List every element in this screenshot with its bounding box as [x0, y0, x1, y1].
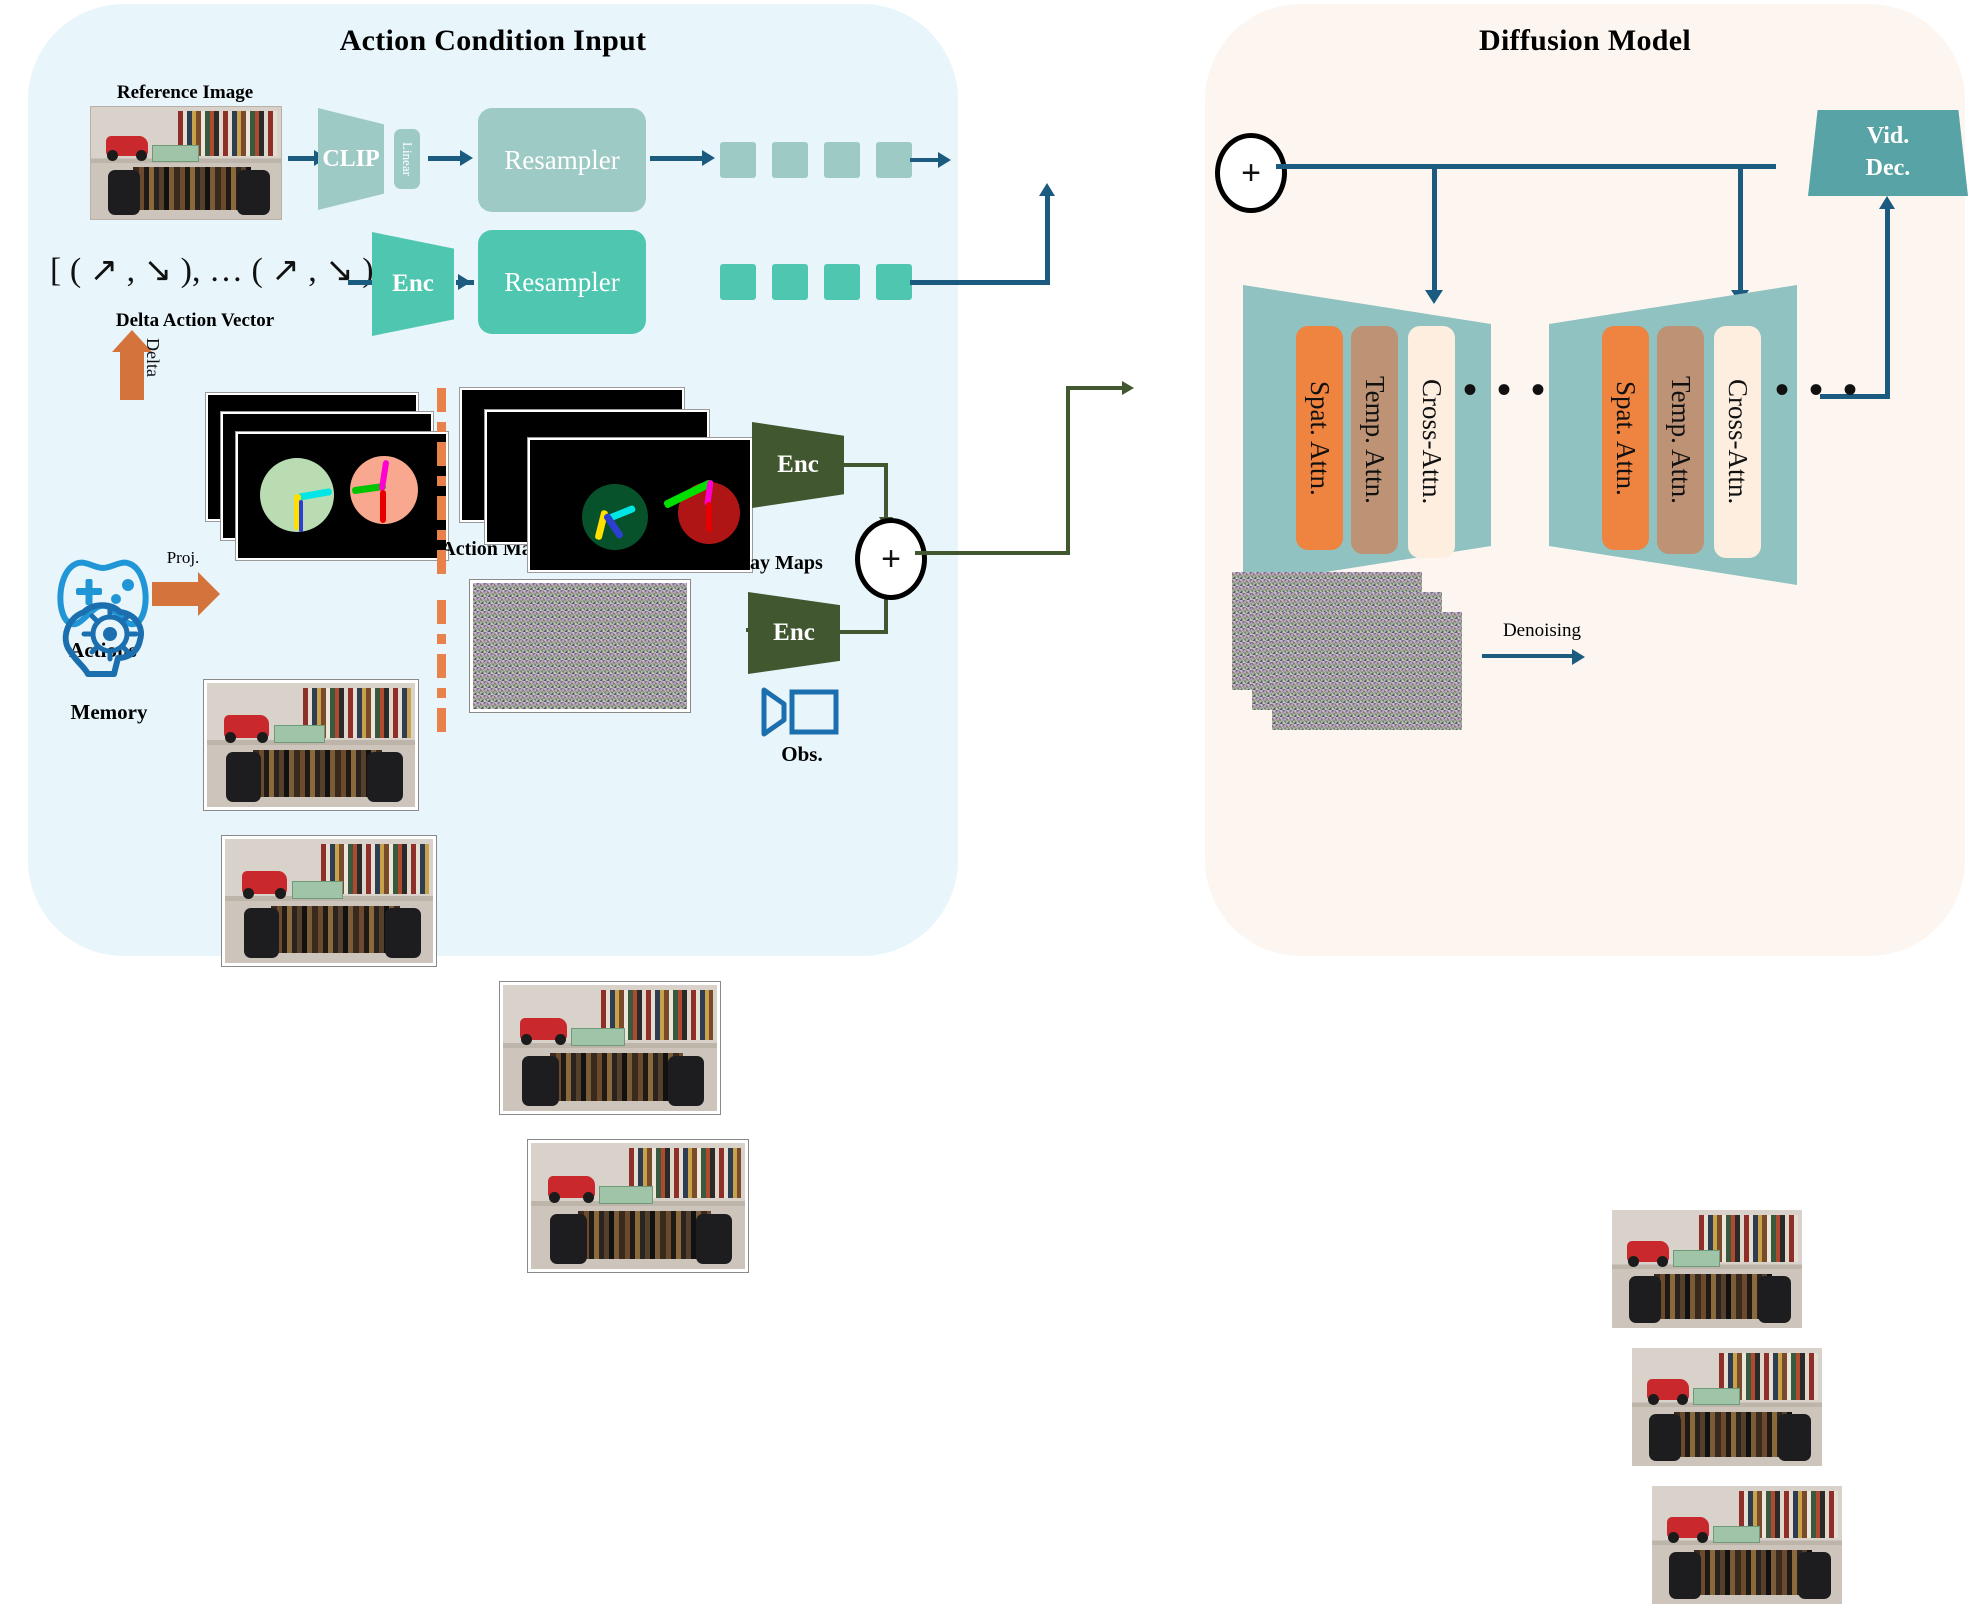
- denoise-output-frame-back: [1612, 1210, 1802, 1328]
- separator-dash-3: [437, 442, 446, 466]
- image-token-4: [876, 142, 912, 178]
- denoise-output-frame-mid: [1632, 1348, 1822, 1466]
- right-stick-red: [380, 490, 386, 523]
- delta-action-vector-expression: [ ( ↗ , ↘ ), … ( ↗ , ↘ ) ]: [50, 250, 350, 310]
- cond-branch-1-head: [1425, 290, 1443, 304]
- action-token-route-head: [1039, 183, 1055, 196]
- video-decoder-line-1: Vid.: [1808, 120, 1968, 152]
- latent-route-v: [1066, 386, 1070, 554]
- proj-arrow-shaft: [152, 582, 198, 606]
- obs-frame-front: [528, 1140, 748, 1272]
- cond-branch-1-v: [1432, 164, 1437, 294]
- obs-route-h: [838, 630, 888, 634]
- separator-dash-4: [437, 476, 446, 486]
- linear-block: Linear: [394, 129, 420, 189]
- separator-dash-1: [437, 388, 446, 412]
- memory-frame-front: [222, 836, 436, 966]
- action-token-2: [772, 264, 808, 300]
- linear-label: Linear: [399, 142, 415, 176]
- arrow-resampler1-line: [650, 156, 702, 161]
- panel-title-diffusion-model: Diffusion Model: [1205, 24, 1965, 58]
- separator-dash-2: [437, 422, 446, 432]
- unet-down-spat-attn-label: Spat. Attn.: [1304, 381, 1335, 496]
- clip-encoder-block: CLIP: [318, 108, 384, 210]
- action-token-1: [720, 264, 756, 300]
- viddec-input-head: [1879, 196, 1895, 209]
- unet-down-temp-attn-label: Temp. Attn.: [1359, 376, 1390, 504]
- maps-encoder-block: Enc: [752, 422, 844, 508]
- separator-dash-6: [437, 530, 446, 540]
- denoising-arrow-head: [1572, 649, 1585, 665]
- separator-dash-12: [437, 708, 446, 732]
- action-encoder-block: Enc: [372, 232, 454, 336]
- delta-arrow-label-wrap: Delta: [142, 338, 163, 382]
- proj-label: Proj.: [148, 548, 218, 568]
- unet-up-temp-attn-label: Temp. Attn.: [1665, 376, 1696, 504]
- action-token-4: [876, 264, 912, 300]
- arrow-enc-to-resampler2-head: [458, 274, 471, 290]
- memory-brain-icon: [58, 596, 156, 688]
- arrow-resampler1-head: [702, 150, 715, 166]
- maps-route-v: [884, 463, 888, 519]
- obs-frame-mid: [500, 982, 720, 1114]
- denoise-input-frame-front: [1272, 612, 1462, 730]
- sum-node-condition: +: [1215, 133, 1287, 213]
- unet-up-ellipsis: • • •: [1775, 366, 1862, 413]
- maps-route-h: [842, 463, 888, 467]
- separator-dash-7: [437, 550, 446, 574]
- obs-encoder-block: Enc: [748, 592, 840, 674]
- memory-label: Memory: [42, 700, 176, 725]
- separator-dash-11: [437, 688, 446, 698]
- left-stick-blue: [299, 500, 303, 532]
- obs-label: Obs.: [752, 742, 852, 767]
- video-decoder-label-wrap: Vid. Dec.: [1808, 120, 1968, 184]
- ray-right-red: [706, 502, 712, 532]
- arrow-ref-to-clip-line: [288, 156, 314, 161]
- unet-up-temp-attn: Temp. Attn.: [1657, 326, 1704, 554]
- unet-up-spat-attn: Spat. Attn.: [1602, 326, 1649, 550]
- arrow-clip-to-resampler-line: [428, 156, 460, 161]
- sum-node-latent: +: [855, 518, 927, 600]
- separator-dash-9: [437, 634, 446, 644]
- video-decoder-line-2: Dec.: [1808, 152, 1968, 184]
- ray-maps-label: && Ray Maps: [660, 552, 860, 575]
- separator-dash-5: [437, 496, 446, 520]
- reference-image-thumbnail: [90, 106, 282, 220]
- unet-down-temp-attn: Temp. Attn.: [1351, 326, 1398, 554]
- cond-bus-h: [1276, 164, 1776, 169]
- proj-arrow-head: [198, 572, 220, 616]
- denoising-label: Denoising: [1472, 620, 1612, 642]
- camera-obs-icon: [760, 684, 842, 740]
- denoise-output-frame-front: [1652, 1486, 1842, 1604]
- resampler-image-block: Resampler: [478, 108, 646, 212]
- viddec-input-v: [1885, 208, 1890, 398]
- denoising-arrow-line: [1482, 654, 1574, 658]
- panel-title-action-condition: Action Condition Input: [28, 24, 958, 58]
- delta-label: Delta: [142, 338, 163, 377]
- resampler-action-block: Resampler: [478, 230, 646, 334]
- latent-route-head: [1122, 381, 1134, 395]
- separator-dash-10: [437, 654, 446, 678]
- action-token-3: [824, 264, 860, 300]
- unet-down-cross-attn-label: Cross-Attn.: [1416, 379, 1447, 504]
- action-token-route-v: [1045, 195, 1050, 285]
- unet-down-ellipsis: • • •: [1463, 366, 1550, 413]
- cond-branch-2-v: [1738, 164, 1743, 294]
- unet-down-cross-attn: Cross-Attn.: [1408, 326, 1455, 558]
- delta-action-vector-label: Delta Action Vector: [50, 310, 340, 332]
- unet-up-cross-attn: Cross-Attn.: [1714, 326, 1761, 558]
- unet-up-cross-attn-label: Cross-Attn.: [1722, 379, 1753, 504]
- latent-route-h: [915, 551, 1070, 555]
- separator-dash-8: [437, 600, 446, 624]
- arrow-tokens-to-plus-head: [938, 152, 951, 168]
- arrow-vector-to-enc-line: [348, 280, 376, 285]
- unet-up-spat-attn-label: Spat. Attn.: [1610, 381, 1641, 496]
- image-token-3: [824, 142, 860, 178]
- image-token-1: [720, 142, 756, 178]
- unet-down-spat-attn: Spat. Attn.: [1296, 326, 1343, 550]
- image-token-2: [772, 142, 808, 178]
- action-token-route-h: [910, 280, 1050, 285]
- latent-route-h2: [1066, 386, 1126, 390]
- memory-frame-back: [204, 680, 418, 810]
- reference-image-label: Reference Image: [90, 82, 280, 104]
- arrow-clip-to-resampler-head: [460, 150, 473, 166]
- obs-frame-noisy: [470, 580, 690, 712]
- delta-arrow-shaft: [120, 348, 144, 400]
